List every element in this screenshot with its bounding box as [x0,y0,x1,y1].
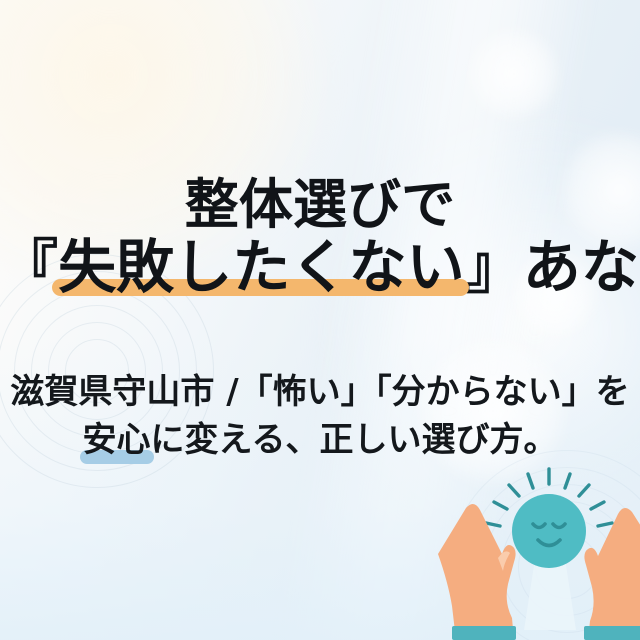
headline-line-2-tail: 』あなたへ [465,233,640,301]
subheadline-highlighted-text: 安心 [83,420,151,460]
headline-line-2: 『失敗したくない』あなたへ [0,237,640,298]
subheadline-line-2: 安心に変える、正しい選び方。 [0,416,640,464]
right-sleeve-cuff [584,626,640,640]
left-sleeve-cuff [452,626,516,640]
subheadline-highlighted-phrase: 安心 [83,416,151,464]
poster-canvas: 整体選びで 『失敗したくない』あなたへ 滋賀県守山市 /「怖い」「分からない」を… [0,0,640,640]
headline: 整体選びで 『失敗したくない』あなたへ [0,176,640,299]
subheadline: 滋賀県守山市 /「怖い」「分からない」を 安心に変える、正しい選び方。 [0,368,640,465]
left-hand-icon [438,504,516,640]
smiling-face-icon [512,494,586,568]
subheadline-line-2-tail: に変える、正しい選び方。 [151,420,558,460]
headline-highlighted-text: 失敗したくない [58,233,465,301]
right-hand-icon [584,508,640,640]
headline-line-1: 整体選びで [0,176,640,233]
illustration-smiling-face-in-hands [436,460,640,640]
subheadline-line-1: 滋賀県守山市 /「怖い」「分からない」を [0,368,640,416]
headline-highlighted-phrase: 失敗したくない [58,237,465,298]
background-bokeh-spot [468,28,560,120]
headline-open-bracket: 『 [0,233,58,301]
